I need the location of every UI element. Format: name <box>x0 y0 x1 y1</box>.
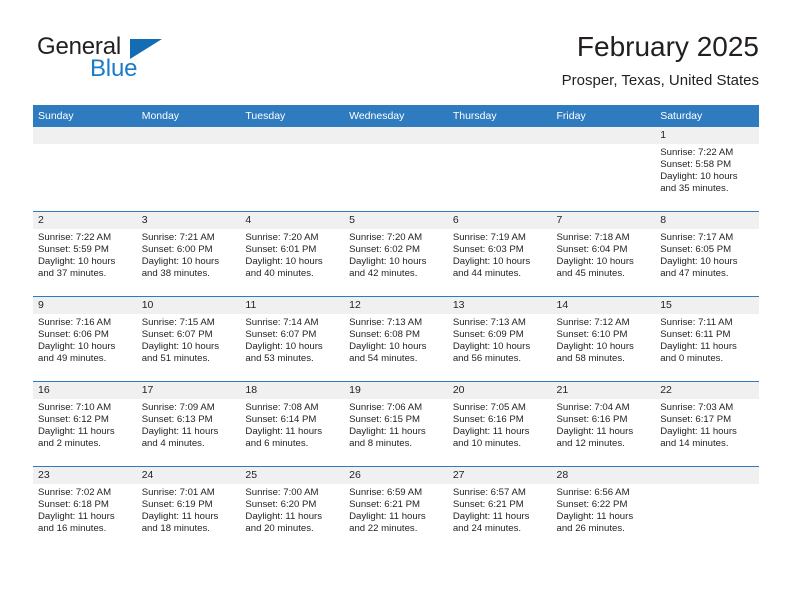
weekday-header-tuesday: Tuesday <box>240 105 344 127</box>
day-details: Sunrise: 7:15 AMSunset: 6:07 PMDaylight:… <box>137 314 241 365</box>
day-details: Sunrise: 7:19 AMSunset: 6:03 PMDaylight:… <box>448 229 552 280</box>
sunrise-text: Sunrise: 7:00 AM <box>245 487 340 499</box>
calendar-day-cell[interactable]: 11Sunrise: 7:14 AMSunset: 6:07 PMDayligh… <box>240 297 344 381</box>
daylight-text: Daylight: 11 hours and 2 minutes. <box>38 426 133 450</box>
sunset-text: Sunset: 6:09 PM <box>453 329 548 341</box>
weekday-header-thursday: Thursday <box>448 105 552 127</box>
sunrise-text: Sunrise: 7:06 AM <box>349 402 444 414</box>
sunset-text: Sunset: 6:03 PM <box>453 244 548 256</box>
sunrise-text: Sunrise: 7:17 AM <box>660 232 755 244</box>
day-number: 4 <box>240 212 344 229</box>
daylight-text: Daylight: 10 hours and 38 minutes. <box>142 256 237 280</box>
daylight-text: Daylight: 11 hours and 24 minutes. <box>453 511 548 535</box>
calendar-day-cell-empty <box>448 127 552 211</box>
sunset-text: Sunset: 6:13 PM <box>142 414 237 426</box>
day-number: 1 <box>655 127 759 144</box>
calendar-day-cell[interactable]: 14Sunrise: 7:12 AMSunset: 6:10 PMDayligh… <box>552 297 656 381</box>
calendar-day-cell-empty <box>552 127 656 211</box>
calendar-week-row: 9Sunrise: 7:16 AMSunset: 6:06 PMDaylight… <box>33 297 759 382</box>
sunset-text: Sunset: 6:18 PM <box>38 499 133 511</box>
calendar-week-row: 1Sunrise: 7:22 AMSunset: 5:58 PMDaylight… <box>33 127 759 212</box>
calendar-day-cell[interactable]: 21Sunrise: 7:04 AMSunset: 6:16 PMDayligh… <box>552 382 656 466</box>
sunset-text: Sunset: 6:00 PM <box>142 244 237 256</box>
logo-text-blue: Blue <box>90 56 137 82</box>
calendar-day-cell[interactable]: 15Sunrise: 7:11 AMSunset: 6:11 PMDayligh… <box>655 297 759 381</box>
page-subtitle: Prosper, Texas, United States <box>562 70 759 92</box>
daylight-text: Daylight: 10 hours and 42 minutes. <box>349 256 444 280</box>
day-details: Sunrise: 7:01 AMSunset: 6:19 PMDaylight:… <box>137 484 241 535</box>
day-number: 9 <box>33 297 137 314</box>
calendar-day-cell[interactable]: 5Sunrise: 7:20 AMSunset: 6:02 PMDaylight… <box>344 212 448 296</box>
calendar-header-row: SundayMondayTuesdayWednesdayThursdayFrid… <box>33 105 759 127</box>
day-number: 13 <box>448 297 552 314</box>
day-number: 23 <box>33 467 137 484</box>
calendar-day-cell[interactable]: 16Sunrise: 7:10 AMSunset: 6:12 PMDayligh… <box>33 382 137 466</box>
day-number: 17 <box>137 382 241 399</box>
day-details: Sunrise: 7:13 AMSunset: 6:08 PMDaylight:… <box>344 314 448 365</box>
daylight-text: Daylight: 10 hours and 44 minutes. <box>453 256 548 280</box>
sunset-text: Sunset: 6:08 PM <box>349 329 444 341</box>
weekday-header-monday: Monday <box>137 105 241 127</box>
day-details: Sunrise: 7:17 AMSunset: 6:05 PMDaylight:… <box>655 229 759 280</box>
daylight-text: Daylight: 11 hours and 6 minutes. <box>245 426 340 450</box>
day-details: Sunrise: 6:59 AMSunset: 6:21 PMDaylight:… <box>344 484 448 535</box>
day-number: 25 <box>240 467 344 484</box>
day-number <box>448 127 552 144</box>
sunrise-text: Sunrise: 7:12 AM <box>557 317 652 329</box>
calendar-day-cell[interactable]: 6Sunrise: 7:19 AMSunset: 6:03 PMDaylight… <box>448 212 552 296</box>
sunrise-text: Sunrise: 7:03 AM <box>660 402 755 414</box>
sunrise-text: Sunrise: 7:10 AM <box>38 402 133 414</box>
calendar-day-cell[interactable]: 28Sunrise: 6:56 AMSunset: 6:22 PMDayligh… <box>552 467 656 551</box>
calendar-day-cell[interactable]: 19Sunrise: 7:06 AMSunset: 6:15 PMDayligh… <box>344 382 448 466</box>
calendar-day-cell[interactable]: 18Sunrise: 7:08 AMSunset: 6:14 PMDayligh… <box>240 382 344 466</box>
sunset-text: Sunset: 6:21 PM <box>349 499 444 511</box>
day-details: Sunrise: 7:06 AMSunset: 6:15 PMDaylight:… <box>344 399 448 450</box>
calendar-day-cell[interactable]: 10Sunrise: 7:15 AMSunset: 6:07 PMDayligh… <box>137 297 241 381</box>
calendar-day-cell-empty <box>344 127 448 211</box>
calendar-day-cell[interactable]: 24Sunrise: 7:01 AMSunset: 6:19 PMDayligh… <box>137 467 241 551</box>
day-details: Sunrise: 7:02 AMSunset: 6:18 PMDaylight:… <box>33 484 137 535</box>
daylight-text: Daylight: 10 hours and 35 minutes. <box>660 171 755 195</box>
sunset-text: Sunset: 6:15 PM <box>349 414 444 426</box>
calendar-day-cell[interactable]: 22Sunrise: 7:03 AMSunset: 6:17 PMDayligh… <box>655 382 759 466</box>
sunset-text: Sunset: 6:17 PM <box>660 414 755 426</box>
sunrise-text: Sunrise: 7:08 AM <box>245 402 340 414</box>
day-number: 20 <box>448 382 552 399</box>
day-number <box>344 127 448 144</box>
day-number: 6 <box>448 212 552 229</box>
day-number: 11 <box>240 297 344 314</box>
day-number: 2 <box>33 212 137 229</box>
day-number: 26 <box>344 467 448 484</box>
day-details: Sunrise: 7:10 AMSunset: 6:12 PMDaylight:… <box>33 399 137 450</box>
daylight-text: Daylight: 10 hours and 45 minutes. <box>557 256 652 280</box>
daylight-text: Daylight: 10 hours and 53 minutes. <box>245 341 340 365</box>
sunrise-text: Sunrise: 7:14 AM <box>245 317 340 329</box>
sunrise-text: Sunrise: 7:05 AM <box>453 402 548 414</box>
calendar-page: General Blue February 2025 Prosper, Texa… <box>0 0 792 612</box>
day-details: Sunrise: 7:04 AMSunset: 6:16 PMDaylight:… <box>552 399 656 450</box>
sunrise-text: Sunrise: 7:20 AM <box>349 232 444 244</box>
weekday-header-sunday: Sunday <box>33 105 137 127</box>
calendar-day-cell-empty <box>655 467 759 551</box>
sunrise-text: Sunrise: 7:22 AM <box>660 147 755 159</box>
sunset-text: Sunset: 6:02 PM <box>349 244 444 256</box>
day-number: 7 <box>552 212 656 229</box>
calendar-day-cell[interactable]: 27Sunrise: 6:57 AMSunset: 6:21 PMDayligh… <box>448 467 552 551</box>
calendar-day-cell[interactable]: 20Sunrise: 7:05 AMSunset: 6:16 PMDayligh… <box>448 382 552 466</box>
calendar-body: 1Sunrise: 7:22 AMSunset: 5:58 PMDaylight… <box>33 127 759 551</box>
sunrise-text: Sunrise: 6:57 AM <box>453 487 548 499</box>
calendar-day-cell[interactable]: 12Sunrise: 7:13 AMSunset: 6:08 PMDayligh… <box>344 297 448 381</box>
day-number: 14 <box>552 297 656 314</box>
daylight-text: Daylight: 11 hours and 14 minutes. <box>660 426 755 450</box>
daylight-text: Daylight: 11 hours and 26 minutes. <box>557 511 652 535</box>
daylight-text: Daylight: 10 hours and 47 minutes. <box>660 256 755 280</box>
day-number: 10 <box>137 297 241 314</box>
daylight-text: Daylight: 11 hours and 8 minutes. <box>349 426 444 450</box>
sunrise-text: Sunrise: 7:21 AM <box>142 232 237 244</box>
day-number: 21 <box>552 382 656 399</box>
day-details: Sunrise: 7:12 AMSunset: 6:10 PMDaylight:… <box>552 314 656 365</box>
page-title: February 2025 <box>562 30 759 64</box>
calendar-day-cell[interactable]: 17Sunrise: 7:09 AMSunset: 6:13 PMDayligh… <box>137 382 241 466</box>
sunset-text: Sunset: 6:07 PM <box>142 329 237 341</box>
sunrise-text: Sunrise: 7:18 AM <box>557 232 652 244</box>
day-details: Sunrise: 7:22 AMSunset: 5:58 PMDaylight:… <box>655 144 759 195</box>
daylight-text: Daylight: 11 hours and 20 minutes. <box>245 511 340 535</box>
weekday-header-saturday: Saturday <box>655 105 759 127</box>
sunset-text: Sunset: 6:16 PM <box>453 414 548 426</box>
calendar-week-row: 16Sunrise: 7:10 AMSunset: 6:12 PMDayligh… <box>33 382 759 467</box>
day-number: 28 <box>552 467 656 484</box>
sunset-text: Sunset: 6:07 PM <box>245 329 340 341</box>
sunrise-text: Sunrise: 7:22 AM <box>38 232 133 244</box>
day-details: Sunrise: 7:20 AMSunset: 6:02 PMDaylight:… <box>344 229 448 280</box>
day-details: Sunrise: 7:22 AMSunset: 5:59 PMDaylight:… <box>33 229 137 280</box>
sunrise-text: Sunrise: 6:59 AM <box>349 487 444 499</box>
day-number: 8 <box>655 212 759 229</box>
day-details: Sunrise: 7:14 AMSunset: 6:07 PMDaylight:… <box>240 314 344 365</box>
day-details: Sunrise: 7:09 AMSunset: 6:13 PMDaylight:… <box>137 399 241 450</box>
sunset-text: Sunset: 6:01 PM <box>245 244 340 256</box>
general-blue-logo[interactable]: General Blue <box>33 34 263 90</box>
calendar-day-cell[interactable]: 23Sunrise: 7:02 AMSunset: 6:18 PMDayligh… <box>33 467 137 551</box>
sunset-text: Sunset: 6:11 PM <box>660 329 755 341</box>
day-details: Sunrise: 7:20 AMSunset: 6:01 PMDaylight:… <box>240 229 344 280</box>
day-number: 24 <box>137 467 241 484</box>
sunset-text: Sunset: 6:06 PM <box>38 329 133 341</box>
sunrise-sunset-calendar: SundayMondayTuesdayWednesdayThursdayFrid… <box>33 105 759 551</box>
day-number <box>552 127 656 144</box>
daylight-text: Daylight: 11 hours and 22 minutes. <box>349 511 444 535</box>
day-number <box>137 127 241 144</box>
calendar-day-cell[interactable]: 13Sunrise: 7:13 AMSunset: 6:09 PMDayligh… <box>448 297 552 381</box>
calendar-week-row: 2Sunrise: 7:22 AMSunset: 5:59 PMDaylight… <box>33 212 759 297</box>
sunrise-text: Sunrise: 7:09 AM <box>142 402 237 414</box>
sunset-text: Sunset: 6:04 PM <box>557 244 652 256</box>
page-header: General Blue February 2025 Prosper, Texa… <box>33 30 759 98</box>
calendar-day-cell[interactable]: 1Sunrise: 7:22 AMSunset: 5:58 PMDaylight… <box>655 127 759 211</box>
calendar-day-cell[interactable]: 25Sunrise: 7:00 AMSunset: 6:20 PMDayligh… <box>240 467 344 551</box>
calendar-day-cell[interactable]: 4Sunrise: 7:20 AMSunset: 6:01 PMDaylight… <box>240 212 344 296</box>
daylight-text: Daylight: 11 hours and 0 minutes. <box>660 341 755 365</box>
sunset-text: Sunset: 6:10 PM <box>557 329 652 341</box>
daylight-text: Daylight: 10 hours and 56 minutes. <box>453 341 548 365</box>
daylight-text: Daylight: 10 hours and 40 minutes. <box>245 256 340 280</box>
day-number <box>240 127 344 144</box>
weekday-header-wednesday: Wednesday <box>344 105 448 127</box>
day-number: 15 <box>655 297 759 314</box>
day-number: 5 <box>344 212 448 229</box>
day-number <box>33 127 137 144</box>
calendar-day-cell-empty <box>240 127 344 211</box>
daylight-text: Daylight: 10 hours and 54 minutes. <box>349 341 444 365</box>
sunset-text: Sunset: 5:59 PM <box>38 244 133 256</box>
sunrise-text: Sunrise: 7:19 AM <box>453 232 548 244</box>
sunset-text: Sunset: 6:16 PM <box>557 414 652 426</box>
sunrise-text: Sunrise: 7:15 AM <box>142 317 237 329</box>
day-number: 18 <box>240 382 344 399</box>
day-details: Sunrise: 7:03 AMSunset: 6:17 PMDaylight:… <box>655 399 759 450</box>
daylight-text: Daylight: 11 hours and 16 minutes. <box>38 511 133 535</box>
calendar-day-cell[interactable]: 26Sunrise: 6:59 AMSunset: 6:21 PMDayligh… <box>344 467 448 551</box>
sunrise-text: Sunrise: 7:02 AM <box>38 487 133 499</box>
sunset-text: Sunset: 6:05 PM <box>660 244 755 256</box>
day-number: 16 <box>33 382 137 399</box>
day-number: 22 <box>655 382 759 399</box>
daylight-text: Daylight: 11 hours and 4 minutes. <box>142 426 237 450</box>
daylight-text: Daylight: 10 hours and 58 minutes. <box>557 341 652 365</box>
day-details: Sunrise: 6:57 AMSunset: 6:21 PMDaylight:… <box>448 484 552 535</box>
calendar-day-cell[interactable]: 2Sunrise: 7:22 AMSunset: 5:59 PMDaylight… <box>33 212 137 296</box>
calendar-day-cell-empty <box>33 127 137 211</box>
sunrise-text: Sunrise: 7:20 AM <box>245 232 340 244</box>
calendar-day-cell[interactable]: 7Sunrise: 7:18 AMSunset: 6:04 PMDaylight… <box>552 212 656 296</box>
sunset-text: Sunset: 6:12 PM <box>38 414 133 426</box>
daylight-text: Daylight: 11 hours and 12 minutes. <box>557 426 652 450</box>
day-details: Sunrise: 7:00 AMSunset: 6:20 PMDaylight:… <box>240 484 344 535</box>
day-details: Sunrise: 7:08 AMSunset: 6:14 PMDaylight:… <box>240 399 344 450</box>
day-number: 3 <box>137 212 241 229</box>
calendar-day-cell-empty <box>137 127 241 211</box>
title-block: February 2025 Prosper, Texas, United Sta… <box>562 30 759 92</box>
sunrise-text: Sunrise: 7:04 AM <box>557 402 652 414</box>
sunrise-text: Sunrise: 7:13 AM <box>453 317 548 329</box>
sunrise-text: Sunrise: 6:56 AM <box>557 487 652 499</box>
sunrise-text: Sunrise: 7:16 AM <box>38 317 133 329</box>
day-details: Sunrise: 7:16 AMSunset: 6:06 PMDaylight:… <box>33 314 137 365</box>
day-details: Sunrise: 7:05 AMSunset: 6:16 PMDaylight:… <box>448 399 552 450</box>
sunrise-text: Sunrise: 7:11 AM <box>660 317 755 329</box>
sunrise-text: Sunrise: 7:01 AM <box>142 487 237 499</box>
calendar-day-cell[interactable]: 9Sunrise: 7:16 AMSunset: 6:06 PMDaylight… <box>33 297 137 381</box>
day-details: Sunrise: 7:18 AMSunset: 6:04 PMDaylight:… <box>552 229 656 280</box>
sunset-text: Sunset: 6:22 PM <box>557 499 652 511</box>
daylight-text: Daylight: 10 hours and 49 minutes. <box>38 341 133 365</box>
sunrise-text: Sunrise: 7:13 AM <box>349 317 444 329</box>
calendar-day-cell[interactable]: 3Sunrise: 7:21 AMSunset: 6:00 PMDaylight… <box>137 212 241 296</box>
day-details: Sunrise: 7:11 AMSunset: 6:11 PMDaylight:… <box>655 314 759 365</box>
sunset-text: Sunset: 6:14 PM <box>245 414 340 426</box>
day-details: Sunrise: 7:13 AMSunset: 6:09 PMDaylight:… <box>448 314 552 365</box>
sunset-text: Sunset: 6:20 PM <box>245 499 340 511</box>
daylight-text: Daylight: 10 hours and 37 minutes. <box>38 256 133 280</box>
calendar-week-row: 23Sunrise: 7:02 AMSunset: 6:18 PMDayligh… <box>33 467 759 552</box>
weekday-header-friday: Friday <box>552 105 656 127</box>
daylight-text: Daylight: 10 hours and 51 minutes. <box>142 341 237 365</box>
day-details: Sunrise: 7:21 AMSunset: 6:00 PMDaylight:… <box>137 229 241 280</box>
sunset-text: Sunset: 6:21 PM <box>453 499 548 511</box>
day-number: 19 <box>344 382 448 399</box>
calendar-day-cell[interactable]: 8Sunrise: 7:17 AMSunset: 6:05 PMDaylight… <box>655 212 759 296</box>
weekday-header-row: SundayMondayTuesdayWednesdayThursdayFrid… <box>33 105 759 127</box>
day-number: 27 <box>448 467 552 484</box>
day-details: Sunrise: 6:56 AMSunset: 6:22 PMDaylight:… <box>552 484 656 535</box>
day-number: 12 <box>344 297 448 314</box>
daylight-text: Daylight: 11 hours and 10 minutes. <box>453 426 548 450</box>
sunset-text: Sunset: 6:19 PM <box>142 499 237 511</box>
sunset-text: Sunset: 5:58 PM <box>660 159 755 171</box>
day-number <box>655 467 759 484</box>
daylight-text: Daylight: 11 hours and 18 minutes. <box>142 511 237 535</box>
